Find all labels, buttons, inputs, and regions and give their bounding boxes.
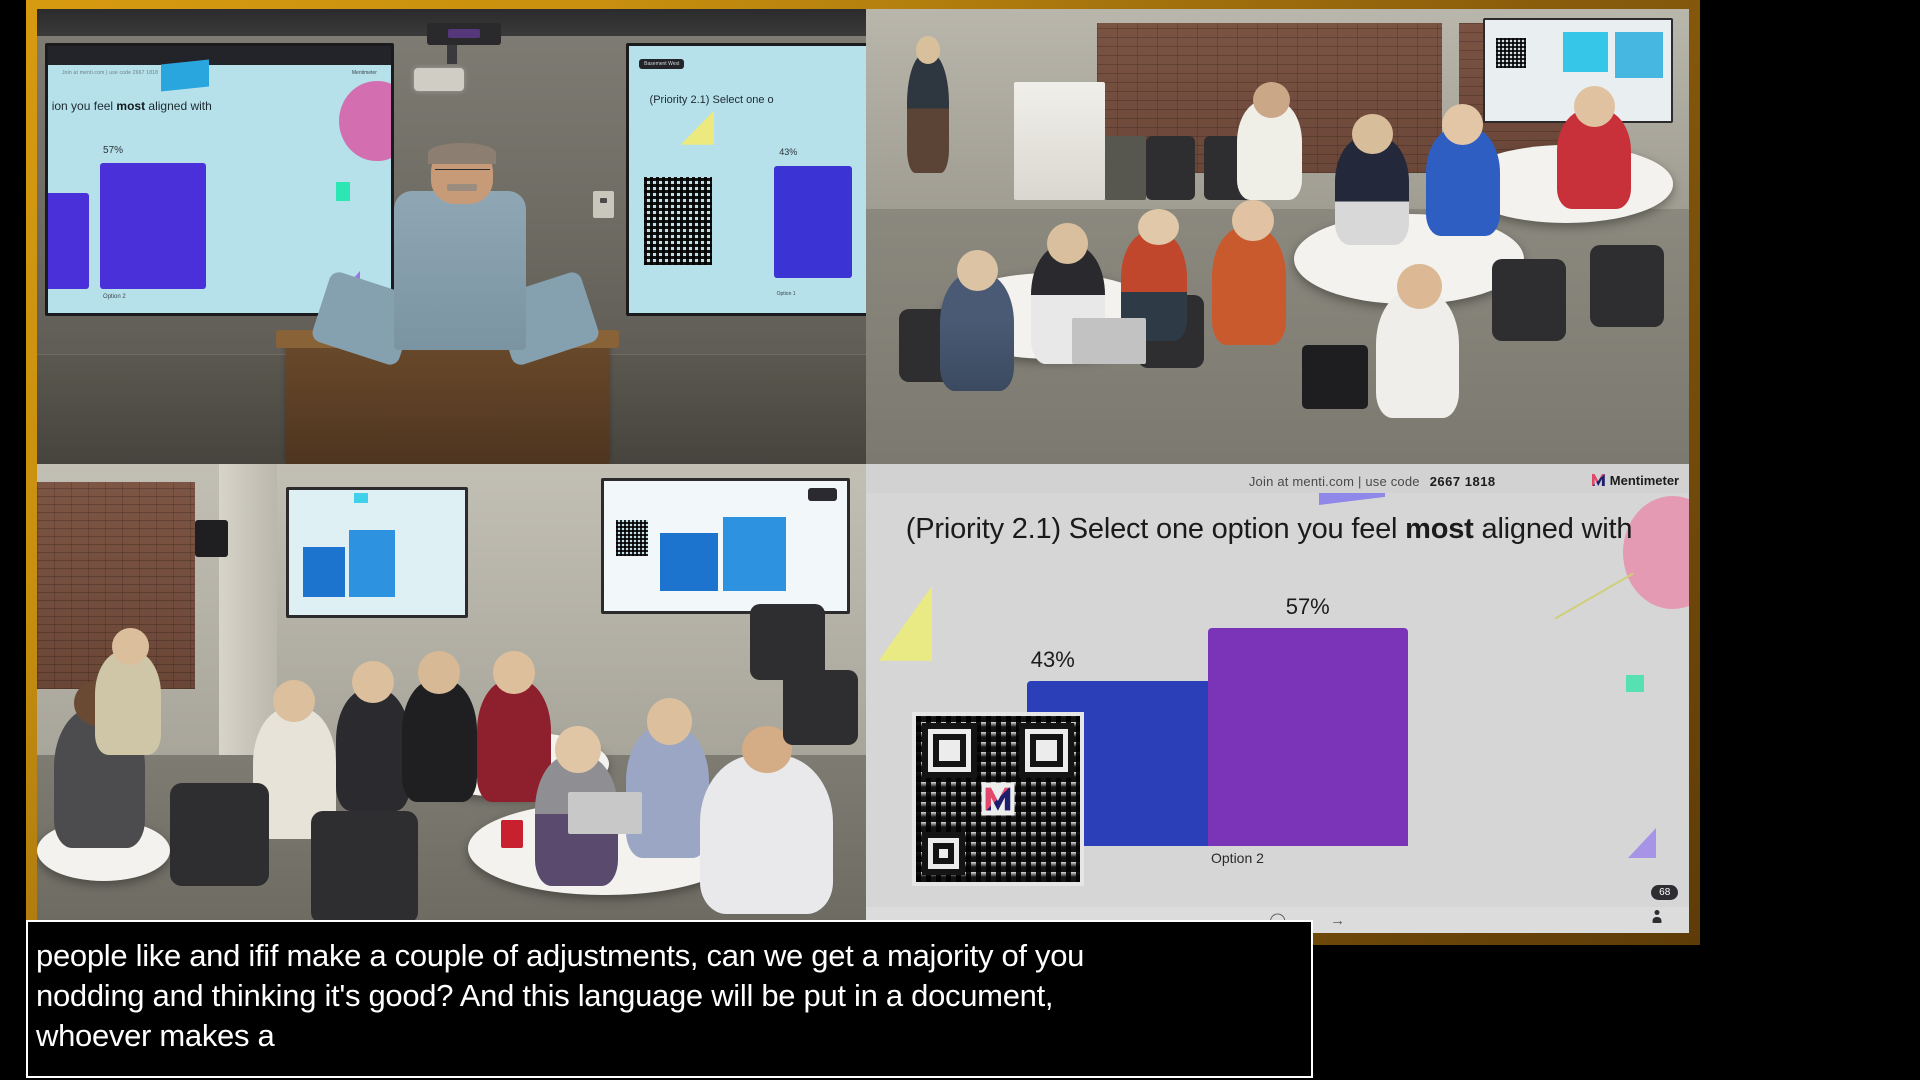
- laptop-icon: [568, 792, 643, 834]
- presenter-moustache: [447, 184, 477, 190]
- attendee-head: [957, 250, 998, 291]
- video-quad-grid: Join at menti.com | use code 2667 1818 M…: [37, 9, 1689, 933]
- display-badge: [808, 488, 837, 501]
- attendee-head: [1253, 82, 1290, 118]
- stacked-chair: [1146, 136, 1195, 200]
- quadrant-mentimeter-screenshare[interactable]: Join at menti.com | use code2667 1818 Me…: [866, 464, 1689, 933]
- caption-line-clipped: [36, 926, 1303, 936]
- screen-stage: Join at menti.com | use code 2667 1818 M…: [0, 0, 1920, 1080]
- attendee-head: [418, 651, 459, 693]
- chair: [311, 811, 419, 924]
- decoration-pink-circle: [339, 81, 393, 161]
- quadrant-room-wide[interactable]: [866, 9, 1689, 464]
- video-frame-border: Join at menti.com | use code 2667 1818 M…: [26, 0, 1700, 945]
- presenter-hair: [428, 143, 495, 163]
- attendee: [1376, 291, 1458, 418]
- projector-mount-stem: [447, 45, 457, 63]
- room-name-badge: Basement West: [639, 59, 684, 69]
- caption-line: whoever makes a: [36, 1016, 1303, 1056]
- caption-line: nodding and thinking it's good? And this…: [36, 976, 1303, 1016]
- display-option-label-right: Option 1: [777, 291, 796, 297]
- chair: [1590, 245, 1664, 327]
- poll-question: (Priority 2.1) Select one option you fee…: [906, 513, 1633, 546]
- closed-caption-box: people like and ifif make a couple of ad…: [26, 920, 1313, 1078]
- mentimeter-brand: Mentimeter: [1592, 473, 1679, 488]
- presenter-torso: [394, 191, 527, 350]
- brand-label: Mentimeter: [1610, 473, 1679, 488]
- podium: [286, 336, 609, 463]
- wall-display-right: [601, 478, 850, 614]
- quadrant-room-rear[interactable]: [37, 464, 866, 933]
- join-qr-code[interactable]: [912, 712, 1085, 886]
- attendee-head: [916, 36, 941, 63]
- display-bar-option-1: [45, 193, 89, 289]
- qr-code-icon: [616, 520, 648, 556]
- presenter-glasses: [435, 169, 490, 176]
- bar-category-option-2: Option 2: [1211, 850, 1264, 866]
- decoration-blue-parallelogram: [161, 60, 209, 92]
- display-percent-label: 57%: [103, 145, 123, 156]
- bar-value-label: 57%: [1286, 594, 1330, 620]
- attendee-head: [555, 726, 601, 773]
- bar-rect-option-2: [1208, 628, 1408, 846]
- join-code: 2667 1818: [1430, 474, 1496, 489]
- attendee: [95, 651, 161, 754]
- join-text: Join at menti.com | use code: [1249, 474, 1420, 489]
- bar-value-label: 43%: [1031, 647, 1075, 673]
- laptop-icon: [1072, 318, 1146, 363]
- soda-can-icon: [501, 820, 523, 848]
- attendee-head: [493, 651, 534, 693]
- mentimeter-mark-icon: [1592, 474, 1605, 486]
- qr-code-icon: [1496, 38, 1526, 68]
- attendee-front-right: [700, 755, 833, 915]
- wall-display-left: [286, 487, 468, 618]
- attendee-head: [1138, 209, 1179, 245]
- chair: [170, 783, 270, 886]
- display-bar-2: [723, 517, 786, 591]
- backpack-icon: [1302, 345, 1368, 409]
- attendee-head: [273, 680, 314, 722]
- participant-count: 68: [1659, 887, 1670, 898]
- attendee-head: [352, 661, 393, 703]
- display-bar-2: [1615, 32, 1663, 78]
- attendee-standing: [907, 54, 948, 172]
- arrow-right-icon[interactable]: →: [1325, 910, 1351, 930]
- display-bar-1: [303, 547, 345, 597]
- attendee: [1212, 227, 1286, 345]
- decoration-cyan: [354, 493, 368, 503]
- attendee-head: [112, 628, 149, 666]
- attendee-head: [1352, 114, 1393, 155]
- chair: [750, 604, 825, 679]
- wall-outlet-icon: [593, 191, 615, 218]
- white-cabinet: [1014, 82, 1104, 200]
- attendee-head: [1232, 200, 1273, 241]
- qr-code-icon: [644, 177, 711, 265]
- chair: [1492, 259, 1566, 341]
- join-instructions: Join at menti.com | use code2667 1818: [1249, 474, 1496, 489]
- attendee-head: [647, 698, 693, 745]
- chair: [783, 670, 858, 745]
- decoration-green-square: [336, 182, 350, 201]
- attendee-head: [1397, 264, 1442, 309]
- display-question-text-right: (Priority 2.1) Select one o: [650, 94, 774, 106]
- mentimeter-slide: Join at menti.com | use code2667 1818 Me…: [866, 464, 1689, 933]
- attendee: [336, 689, 411, 811]
- display-join-line: Join at menti.com | use code 2667 1818: [62, 70, 158, 76]
- display-bar-right: [774, 166, 852, 278]
- display-option-label: Option 2: [103, 294, 126, 300]
- trash-bin: [1105, 136, 1146, 200]
- qr-finder-bottom-left: [922, 832, 965, 875]
- bar-group-option-2: 57%: [1208, 594, 1408, 846]
- display-bar-1: [1563, 32, 1607, 72]
- mentimeter-mark-icon: [986, 788, 1011, 811]
- qr-code-icon: [916, 716, 1081, 882]
- attendee: [402, 680, 477, 802]
- display-question-text: ion you feel most aligned with: [52, 99, 212, 113]
- attendee-head: [1047, 223, 1088, 264]
- display-bar-2: [349, 530, 395, 596]
- smoke-detector-icon: [414, 68, 464, 91]
- decoration-yellow-triangle: [681, 110, 715, 145]
- attendee-head: [1574, 86, 1615, 127]
- display-bar-1: [660, 533, 718, 592]
- quadrant-presenter-podium[interactable]: Join at menti.com | use code 2667 1818 M…: [37, 9, 866, 464]
- wall-display-right: Basement West (Priority 2.1) Select one …: [626, 43, 867, 316]
- person-icon: [1652, 910, 1661, 923]
- ceiling-projector-icon: [427, 23, 502, 46]
- display-brand: Mentimeter: [352, 70, 377, 76]
- display-percent-label-right: 43%: [779, 147, 797, 157]
- qr-center-logo: [981, 783, 1014, 816]
- participant-count-badge: 68: [1651, 885, 1678, 900]
- caption-line: people like and ifif make a couple of ad…: [36, 936, 1303, 976]
- display-header-bar: [48, 46, 390, 65]
- display-bar-option-2: [100, 163, 206, 288]
- wall-camera-icon: [195, 520, 228, 558]
